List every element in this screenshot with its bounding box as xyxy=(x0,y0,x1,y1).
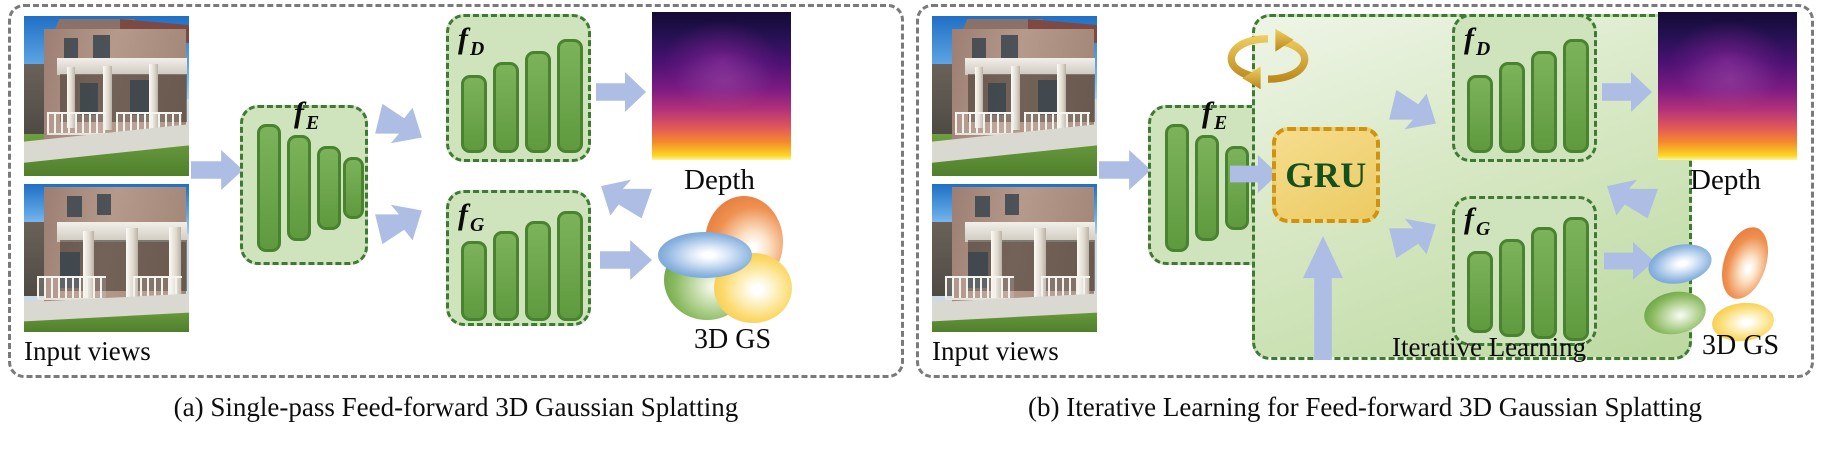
input-views-label-b: Input views xyxy=(932,336,1059,367)
encoder-label-sub: E xyxy=(306,112,319,134)
gaussian-label-text: f xyxy=(458,198,468,231)
input-view-photo-top-b xyxy=(932,16,1097,176)
depth-decoder-label-b: fD xyxy=(1464,22,1490,61)
gru-label: GRU xyxy=(1285,154,1367,196)
photo-railing xyxy=(945,276,1014,301)
encoder-layer-bar xyxy=(317,146,341,230)
decoder-layer-bar xyxy=(1467,75,1493,153)
input-view-photo-bottom-a xyxy=(24,184,189,332)
encoder-layer-bar xyxy=(287,135,311,241)
iterative-learning-label: Iterative Learning xyxy=(1392,332,1586,363)
gaussian-head-label-a: fG xyxy=(458,198,484,237)
photo-porch-roof xyxy=(57,58,187,76)
photo-window xyxy=(1005,194,1020,215)
gaussian-layer-bar xyxy=(1531,227,1557,339)
encoder-layer-bar xyxy=(257,124,281,252)
gaussian-layer-bar xyxy=(1563,217,1589,341)
encoder-label-sub: E xyxy=(1214,112,1227,134)
gaussian-splat-blue-a xyxy=(658,232,752,278)
depth-map-image-b xyxy=(1658,12,1797,160)
gaussian-layer-bar xyxy=(493,231,519,321)
photo-porch-roof xyxy=(57,222,187,241)
gs-label-b: 3D GS xyxy=(1702,330,1779,362)
decoder-layer-bar xyxy=(557,39,583,153)
figure-canvas: Input views fE fD fG Depth xyxy=(0,0,1822,456)
encoder-label-b: fE xyxy=(1202,96,1227,135)
gaussian-layer-bar xyxy=(1499,239,1525,337)
photo-porch-roof xyxy=(965,222,1095,241)
gaussian-label-sub: G xyxy=(470,214,484,236)
photo-window xyxy=(97,194,112,215)
gaussian-layer-bar xyxy=(461,241,487,321)
gaussian-layer-bar xyxy=(557,211,583,321)
decoder-layer-bar xyxy=(1499,62,1525,153)
encoder-layer-bar xyxy=(1225,146,1249,230)
depth-house-silhouette xyxy=(1680,50,1780,109)
decoder-layer-bar xyxy=(1563,39,1589,153)
photo-window xyxy=(64,38,79,59)
photo-railing xyxy=(37,276,106,301)
input-view-photo-top-a xyxy=(24,16,189,176)
photo-window xyxy=(972,38,987,59)
encoder-layer-bar xyxy=(1195,135,1219,241)
decoder-layer-bar xyxy=(525,51,551,153)
decoder-label-text: f xyxy=(458,22,468,55)
encoder-layer-bar xyxy=(1165,124,1189,252)
encoder-label-text: f xyxy=(1202,96,1212,129)
encoder-label-text: f xyxy=(294,96,304,129)
decoder-label-text: f xyxy=(1464,22,1474,55)
decoder-label-sub: D xyxy=(1476,38,1490,60)
decoder-label-sub: D xyxy=(470,38,484,60)
depth-label-a: Depth xyxy=(684,164,755,197)
encoder-layer-bar xyxy=(343,157,364,219)
photo-window xyxy=(1001,35,1018,57)
photo-window xyxy=(975,196,990,217)
decoder-layer-bar xyxy=(461,75,487,153)
decoder-layer-bar xyxy=(1531,51,1557,153)
photo-window xyxy=(80,83,98,115)
photo-railing xyxy=(955,112,1014,135)
photo-window xyxy=(988,83,1006,115)
gaussian-layer-bar xyxy=(525,221,551,321)
gaussian-layer-bar xyxy=(1467,251,1493,333)
input-view-photo-bottom-b xyxy=(932,184,1097,332)
gaussian-label-text: f xyxy=(1464,202,1474,235)
encoder-label-a: fE xyxy=(294,96,319,135)
depth-map-image-a xyxy=(652,12,791,160)
panel-caption-a: (a) Single-pass Feed-forward 3D Gaussian… xyxy=(8,392,904,423)
input-views-label-a: Input views xyxy=(24,336,151,367)
panel-caption-b: (b) Iterative Learning for Feed-forward … xyxy=(916,392,1814,423)
photo-window xyxy=(67,196,82,217)
photo-railing xyxy=(47,112,106,135)
depth-label-b: Depth xyxy=(1690,164,1761,197)
depth-house-silhouette xyxy=(674,50,774,109)
photo-porch-roof xyxy=(965,58,1095,76)
decoder-layer-bar xyxy=(493,62,519,153)
gru-module: GRU xyxy=(1272,127,1380,223)
gs-label-a: 3D GS xyxy=(694,324,771,356)
recurrence-loop-icon xyxy=(1222,26,1314,92)
gaussian-label-sub: G xyxy=(1476,218,1490,240)
depth-decoder-label-a: fD xyxy=(458,22,484,61)
gaussian-head-label-b: fG xyxy=(1464,202,1490,241)
photo-window xyxy=(93,35,110,57)
